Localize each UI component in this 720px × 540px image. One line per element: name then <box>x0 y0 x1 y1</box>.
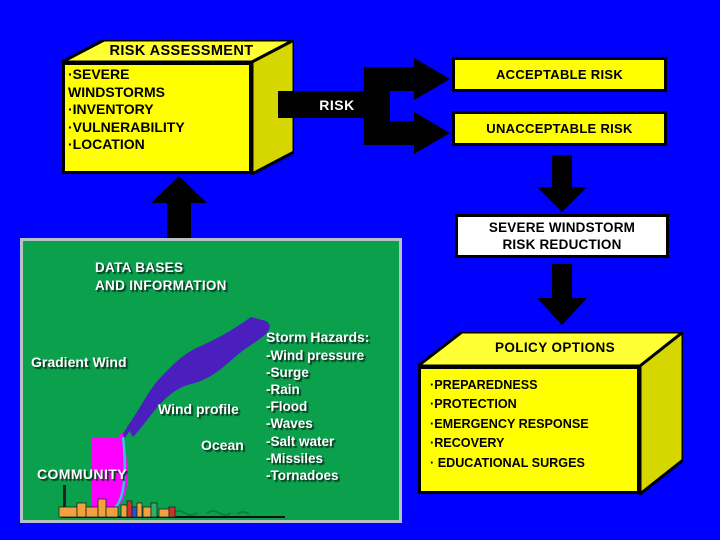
risk-assessment-item: ·LOCATION <box>68 136 248 154</box>
wind-profile-label: Wind profile <box>158 401 239 417</box>
policy-options-box[interactable]: POLICY OPTIONS ·PREPAREDNESS ·PROTECTION… <box>418 332 683 497</box>
policy-options-item-list: ·PREPAREDNESS ·PROTECTION ·EMERGENCY RES… <box>430 376 645 473</box>
down-arrow-icon <box>534 264 590 326</box>
risk-assessment-box[interactable]: RISK ASSESSMENT ·SEVERE WINDSTORMS ·INVE… <box>62 40 294 175</box>
policy-options-title: POLICY OPTIONS <box>440 340 670 362</box>
unacceptable-risk-label: UNACCEPTABLE RISK <box>486 121 632 136</box>
risk-assessment-item: ·SEVERE <box>68 66 248 84</box>
storm-hazard-item: -Missiles <box>266 450 369 467</box>
risk-assessment-item: ·VULNERABILITY <box>68 119 248 137</box>
up-arrow-to-risk-assessment <box>148 176 210 238</box>
community-label: COMMUNITY <box>37 466 127 482</box>
ocean-label: Ocean <box>201 437 244 453</box>
storm-hazard-item: -Rain <box>266 381 369 398</box>
unacceptable-risk-box[interactable]: UNACCEPTABLE RISK <box>452 111 667 146</box>
data-bases-panel[interactable]: DATA BASES AND INFORMATION Gradient Wind… <box>20 238 402 523</box>
policy-options-item: ·PREPAREDNESS <box>430 376 645 395</box>
risk-reduction-box[interactable]: SEVERE WINDSTORM RISK REDUCTION <box>455 214 669 258</box>
storm-hazard-item: -Salt water <box>266 433 369 450</box>
risk-reduction-line1: SEVERE WINDSTORM <box>489 219 635 236</box>
acceptable-risk-label: ACCEPTABLE RISK <box>496 67 623 82</box>
policy-options-item: ·RECOVERY <box>430 434 645 453</box>
acceptable-risk-box[interactable]: ACCEPTABLE RISK <box>452 57 667 92</box>
storm-hazard-item: -Wind pressure <box>266 347 369 364</box>
risk-assessment-item-list: ·SEVERE WINDSTORMS ·INVENTORY ·VULNERABI… <box>68 66 248 154</box>
down-arrow-icon <box>534 155 590 213</box>
data-panel-title: DATA BASES AND INFORMATION <box>95 259 227 295</box>
up-arrow-icon <box>148 176 210 238</box>
risk-assessment-title: RISK ASSESSMENT <box>74 41 289 65</box>
diagram-canvas: RISK ASSESSMENT ·SEVERE WINDSTORMS ·INVE… <box>0 0 720 540</box>
risk-assessment-item: WINDSTORMS <box>68 84 248 102</box>
data-panel-title-line2: AND INFORMATION <box>95 277 227 295</box>
data-panel-title-line1: DATA BASES <box>95 259 227 277</box>
risk-reduction-line2: RISK REDUCTION <box>502 236 621 253</box>
storm-hazard-item: -Flood <box>266 398 369 415</box>
storm-hazard-item: -Waves <box>266 415 369 432</box>
policy-options-item: ·EMERGENCY RESPONSE <box>430 415 645 434</box>
storm-hazards-list: Storm Hazards: -Wind pressure -Surge -Ra… <box>266 329 369 484</box>
risk-connector-label: RISK <box>294 93 380 117</box>
storm-hazard-item: -Tornadoes <box>266 467 369 484</box>
down-arrow-to-risk-reduction <box>534 155 590 213</box>
policy-options-item: ·PROTECTION <box>430 395 645 414</box>
risk-assessment-item: ·INVENTORY <box>68 101 248 119</box>
risk-fork-arrow: RISK <box>278 57 458 157</box>
gradient-wind-label: Gradient Wind <box>31 354 127 370</box>
storm-hazard-item: -Surge <box>266 364 369 381</box>
down-arrow-to-policy-options <box>534 264 590 326</box>
storm-hazards-title: Storm Hazards: <box>266 329 369 347</box>
policy-options-item: · EDUCATIONAL SURGES <box>430 454 645 473</box>
